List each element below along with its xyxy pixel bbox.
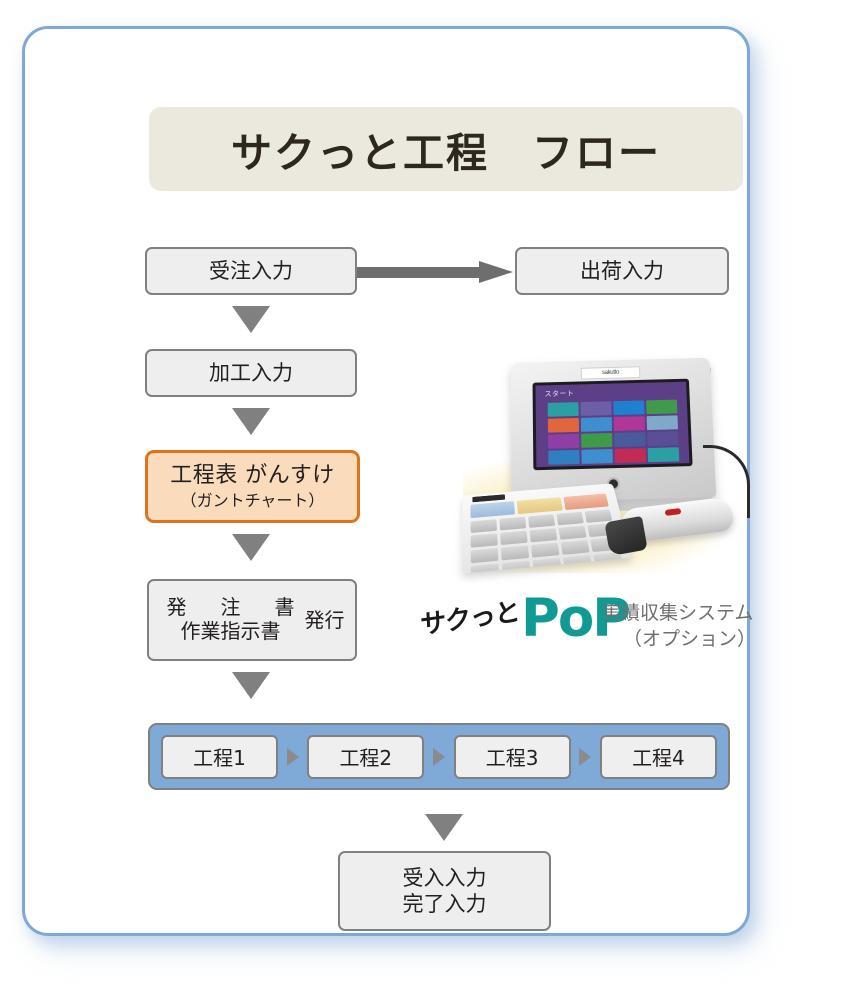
process-step-4[interactable]: 工程4	[600, 735, 717, 779]
start-tile	[648, 447, 680, 462]
node-gantt-chart-label: 工程表 がんすけ	[170, 462, 335, 490]
process-separator-icon	[579, 748, 591, 766]
process-step-4-label: 工程4	[632, 742, 685, 771]
arrow-right-icon	[357, 261, 515, 283]
start-tile	[548, 450, 579, 465]
node-work-instruction-label: 作業指示書	[181, 620, 281, 644]
start-tile	[614, 432, 645, 447]
arrow-down-icon	[232, 408, 270, 435]
keypad-key-blue	[471, 501, 516, 518]
keypad-key	[556, 512, 583, 525]
scanner-head	[604, 516, 647, 556]
pop-caption-line2: （オプション）	[602, 627, 777, 653]
pop-logo-prefix: サクっと	[420, 599, 520, 639]
terminal-brand-label: sakutto	[581, 366, 641, 379]
node-document-issue-stack: 発 注 書 作業指示書	[160, 596, 302, 643]
keypad-key	[501, 545, 529, 560]
product-photo: sakutto スタート	[455, 351, 751, 587]
keypad-key	[559, 526, 587, 540]
start-tile	[548, 402, 579, 417]
screen-start-label: スタート	[544, 388, 574, 399]
start-tile	[581, 449, 612, 464]
start-tile	[548, 434, 579, 449]
node-processing-input-label: 加工入力	[209, 360, 293, 386]
start-tile	[647, 415, 678, 430]
keypad-key	[471, 548, 499, 563]
keypad-key-orange	[563, 493, 609, 510]
node-shipping-input[interactable]: 出荷入力	[515, 247, 729, 295]
page-title: サクっと工程 フロー	[231, 119, 661, 179]
keypad-key	[531, 543, 560, 558]
terminal-device: sakutto スタート	[511, 358, 717, 503]
node-purchase-order-label: 発 注 書	[160, 596, 302, 620]
arrow-down-icon	[232, 306, 270, 333]
process-separator-icon	[287, 748, 299, 766]
keypad-key-yellow	[517, 497, 562, 514]
diagram-frame: サクっと工程 フロー 受注入力 出荷入力 加工入力 工程表 がんすけ （ガントチ…	[22, 26, 750, 936]
start-tile	[647, 431, 679, 446]
node-gantt-chart-sublabel: （ガントチャート）	[181, 491, 325, 511]
node-order-input-label: 受注入力	[209, 258, 293, 284]
start-tile	[548, 418, 579, 433]
keypad-key	[529, 528, 557, 542]
process-separator-icon	[433, 748, 445, 766]
keypad-key	[500, 531, 527, 545]
node-processing-input[interactable]: 加工入力	[145, 349, 357, 397]
keypad-key	[499, 517, 526, 531]
node-receipt-label: 受入入力	[403, 865, 487, 891]
start-tile	[580, 401, 611, 416]
arrow-down-icon	[232, 672, 270, 699]
start-tile	[646, 400, 677, 415]
node-gantt-chart[interactable]: 工程表 がんすけ （ガントチャート）	[145, 450, 360, 523]
pop-caption-line1: 実績収集システム	[602, 601, 777, 627]
barcode-scanner	[607, 497, 735, 559]
pop-caption: 実績収集システム （オプション）	[602, 601, 777, 652]
keypad-key	[471, 519, 497, 533]
node-document-issue-inner: 発 注 書 作業指示書 発行	[160, 596, 345, 643]
node-issue-label: 発行	[305, 608, 345, 633]
node-document-issue[interactable]: 発 注 書 作業指示書 発行	[147, 579, 357, 661]
process-band: 工程1 工程2 工程3 工程4	[148, 723, 730, 790]
keypad-key	[561, 540, 590, 555]
start-tile	[615, 448, 647, 463]
start-tile	[581, 433, 612, 448]
process-step-1[interactable]: 工程1	[161, 735, 278, 779]
pop-logo: サクっと PoP	[420, 595, 629, 643]
terminal-screen: スタート	[533, 379, 693, 471]
arrow-head	[479, 261, 513, 283]
process-step-2[interactable]: 工程2	[307, 735, 424, 779]
arrow-shaft	[357, 267, 483, 278]
start-tile	[581, 417, 612, 432]
start-screen-tiles	[548, 400, 680, 465]
node-receipt-completion[interactable]: 受入入力 完了入力	[338, 851, 551, 931]
node-shipping-input-label: 出荷入力	[580, 258, 664, 284]
keypad-key	[528, 514, 555, 528]
arrow-down-icon	[425, 814, 463, 841]
node-order-input[interactable]: 受注入力	[145, 247, 357, 295]
start-tile	[614, 416, 645, 431]
keypad-brand-label	[472, 494, 505, 502]
arrow-down-icon	[232, 534, 270, 561]
process-step-3[interactable]: 工程3	[454, 735, 571, 779]
start-tile	[613, 400, 644, 415]
process-step-2-label: 工程2	[339, 742, 392, 771]
process-step-3-label: 工程3	[486, 742, 539, 771]
process-step-1-label: 工程1	[193, 742, 246, 771]
title-banner: サクっと工程 フロー	[149, 107, 743, 191]
keypad-key	[471, 533, 498, 548]
node-completion-label: 完了入力	[403, 891, 487, 917]
